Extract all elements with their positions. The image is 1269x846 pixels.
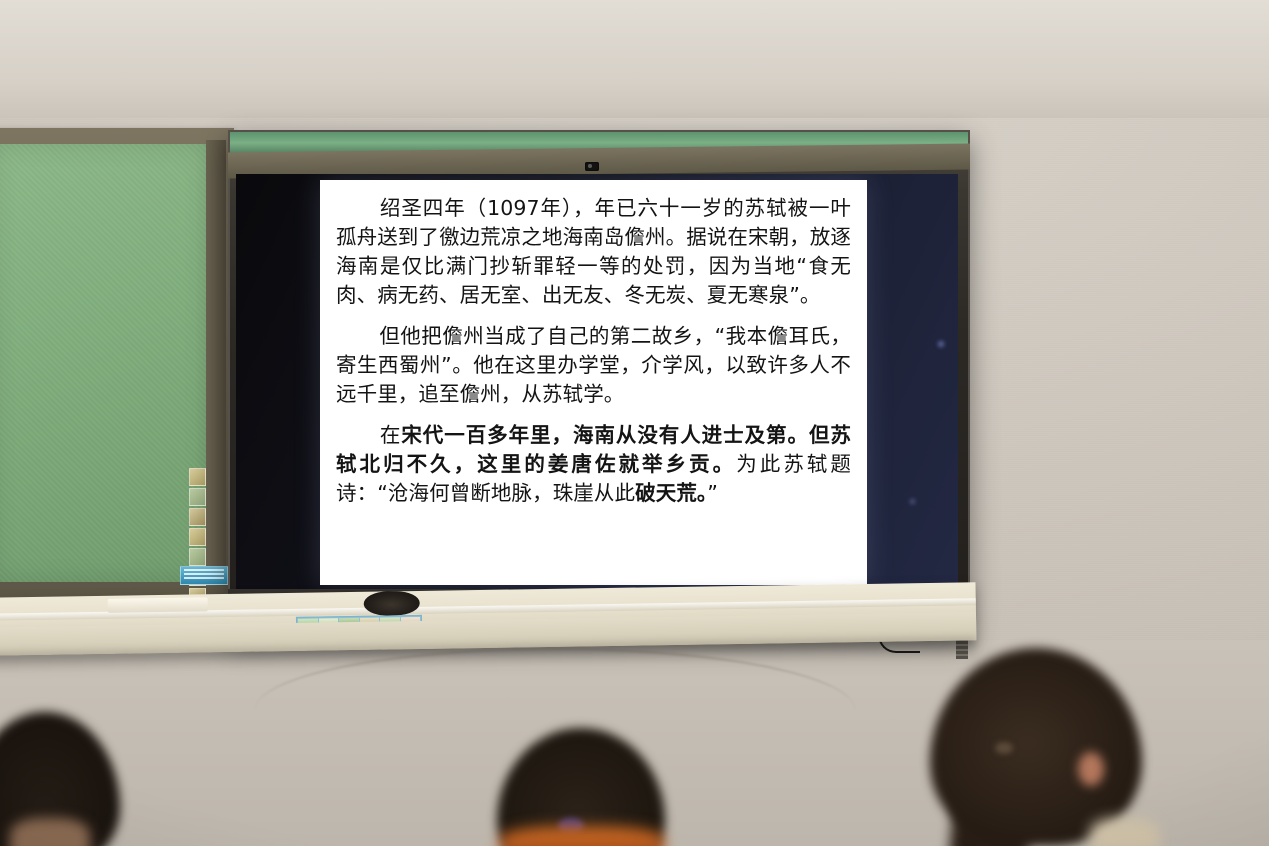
screen-reflection-secondary xyxy=(910,499,915,504)
slide-paragraph-3: 在宋代一百多年里，海南从没有人进士及第。但苏轼北归不久，这里的姜唐佐就举乡贡。为… xyxy=(336,421,851,508)
slide-text-emphasis: 破天荒。 xyxy=(635,481,707,505)
slide-text-run: ” xyxy=(707,481,718,505)
speaker-icon xyxy=(364,591,420,616)
presentation-slide[interactable]: 绍圣四年（1097年），年已六十一岁的苏轼被一叶孤舟送到了徼边荒凉之地海南岛儋州… xyxy=(320,180,867,585)
slide-paragraph-2: 但他把儋州当成了自己的第二故乡，“我本儋耳氏，寄生西蜀州”。他在这里办学堂，介学… xyxy=(336,322,851,409)
chalk-eraser[interactable] xyxy=(108,597,208,613)
slide-text-run: 在 xyxy=(379,423,401,447)
student-right-collar xyxy=(1090,818,1160,846)
screen-reflection xyxy=(938,341,944,347)
wall-upper-band xyxy=(0,0,1269,118)
chalkboard-sticker-strip xyxy=(189,468,204,606)
student-right-hair-band xyxy=(995,742,1013,754)
student-left-neck xyxy=(10,818,90,846)
student-center-shirt xyxy=(500,826,664,846)
camera-icon xyxy=(585,162,599,171)
slide-text-run: 但他把儋州当成了自己的第二故乡，“我本儋耳氏，寄生西蜀州”。他在这里办学堂，介学… xyxy=(336,324,851,406)
interactive-flat-panel[interactable]: 绍圣四年（1097年），年已六十一岁的苏轼被一叶孤舟送到了徼边荒凉之地海南岛儋州… xyxy=(228,130,970,635)
chalkboard-info-label xyxy=(180,566,228,585)
classroom-photo: 绍圣四年（1097年），年已六十一岁的苏轼被一叶孤舟送到了徼边荒凉之地海南岛儋州… xyxy=(0,0,1269,846)
chalkboard-surface xyxy=(0,144,208,582)
slide-text-run: 绍圣四年（1097年），年已六十一岁的苏轼被一叶孤舟送到了徼边荒凉之地海南岛儋州… xyxy=(336,196,851,307)
display-screen[interactable]: 绍圣四年（1097年），年已六十一岁的苏轼被一叶孤舟送到了徼边荒凉之地海南岛儋州… xyxy=(236,174,958,591)
chalkboard-slide-rail[interactable] xyxy=(206,140,226,586)
green-chalkboard xyxy=(0,128,234,598)
slide-paragraph-1: 绍圣四年（1097年），年已六十一岁的苏轼被一叶孤舟送到了徼边荒凉之地海南岛儋州… xyxy=(336,194,851,310)
student-right-ear xyxy=(1078,752,1104,786)
